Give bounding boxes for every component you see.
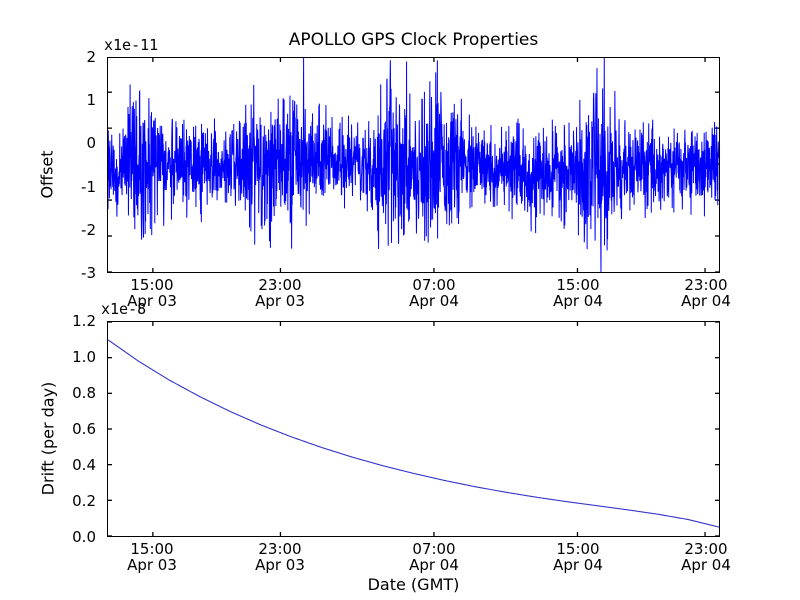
ytick-label: 0.8 <box>72 384 96 402</box>
drift-ytick-labels: 1.2 1.0 0.8 0.6 0.4 0.2 0.0 <box>0 321 96 537</box>
ytick-label: 1.2 <box>72 312 96 330</box>
xtick-label: 15:00 Apr 04 <box>553 277 603 309</box>
ytick-label: 0.2 <box>72 492 96 510</box>
ytick-label: 2 <box>86 48 96 66</box>
offset-series-plot <box>108 58 719 272</box>
drift-line <box>108 340 719 527</box>
drift-y-exponent-label: x1e-8 <box>101 300 146 318</box>
matplotlib-figure: APOLLO GPS Clock Properties x1e-11 Offse… <box>0 0 800 600</box>
xtick-label: 15:00 Apr 03 <box>127 541 177 573</box>
xtick-label: 23:00 Apr 04 <box>681 541 731 573</box>
xtick-label: 15:00 Apr 04 <box>553 541 603 573</box>
xtick-label: 07:00 Apr 04 <box>409 541 459 573</box>
ytick-label: 0.0 <box>72 528 96 546</box>
drift-x-axis-label: Date (GMT) <box>107 575 720 594</box>
ytick-label: 0.4 <box>72 456 96 474</box>
offset-line <box>108 58 719 272</box>
offset-plot-area <box>107 57 720 273</box>
ytick-label: -3 <box>81 264 96 282</box>
xtick-label: 23:00 Apr 04 <box>681 277 731 309</box>
drift-series-plot <box>108 322 719 536</box>
drift-plot-area <box>107 321 720 537</box>
ytick-label: 1 <box>86 91 96 109</box>
figure-title: APOLLO GPS Clock Properties <box>107 30 720 50</box>
xtick-label: 23:00 Apr 03 <box>255 541 305 573</box>
ytick-label: 0.6 <box>72 420 96 438</box>
offset-ytick-labels: 2 1 0 -1 -2 -3 <box>0 57 96 273</box>
ytick-label: 1.0 <box>72 348 96 366</box>
ytick-label: 0 <box>86 134 96 152</box>
offset-y-exponent-label: x1e-11 <box>104 36 158 54</box>
ytick-label: -1 <box>81 178 96 196</box>
xtick-label: 07:00 Apr 04 <box>409 277 459 309</box>
ytick-label: -2 <box>81 221 96 239</box>
xtick-label: 23:00 Apr 03 <box>255 277 305 309</box>
